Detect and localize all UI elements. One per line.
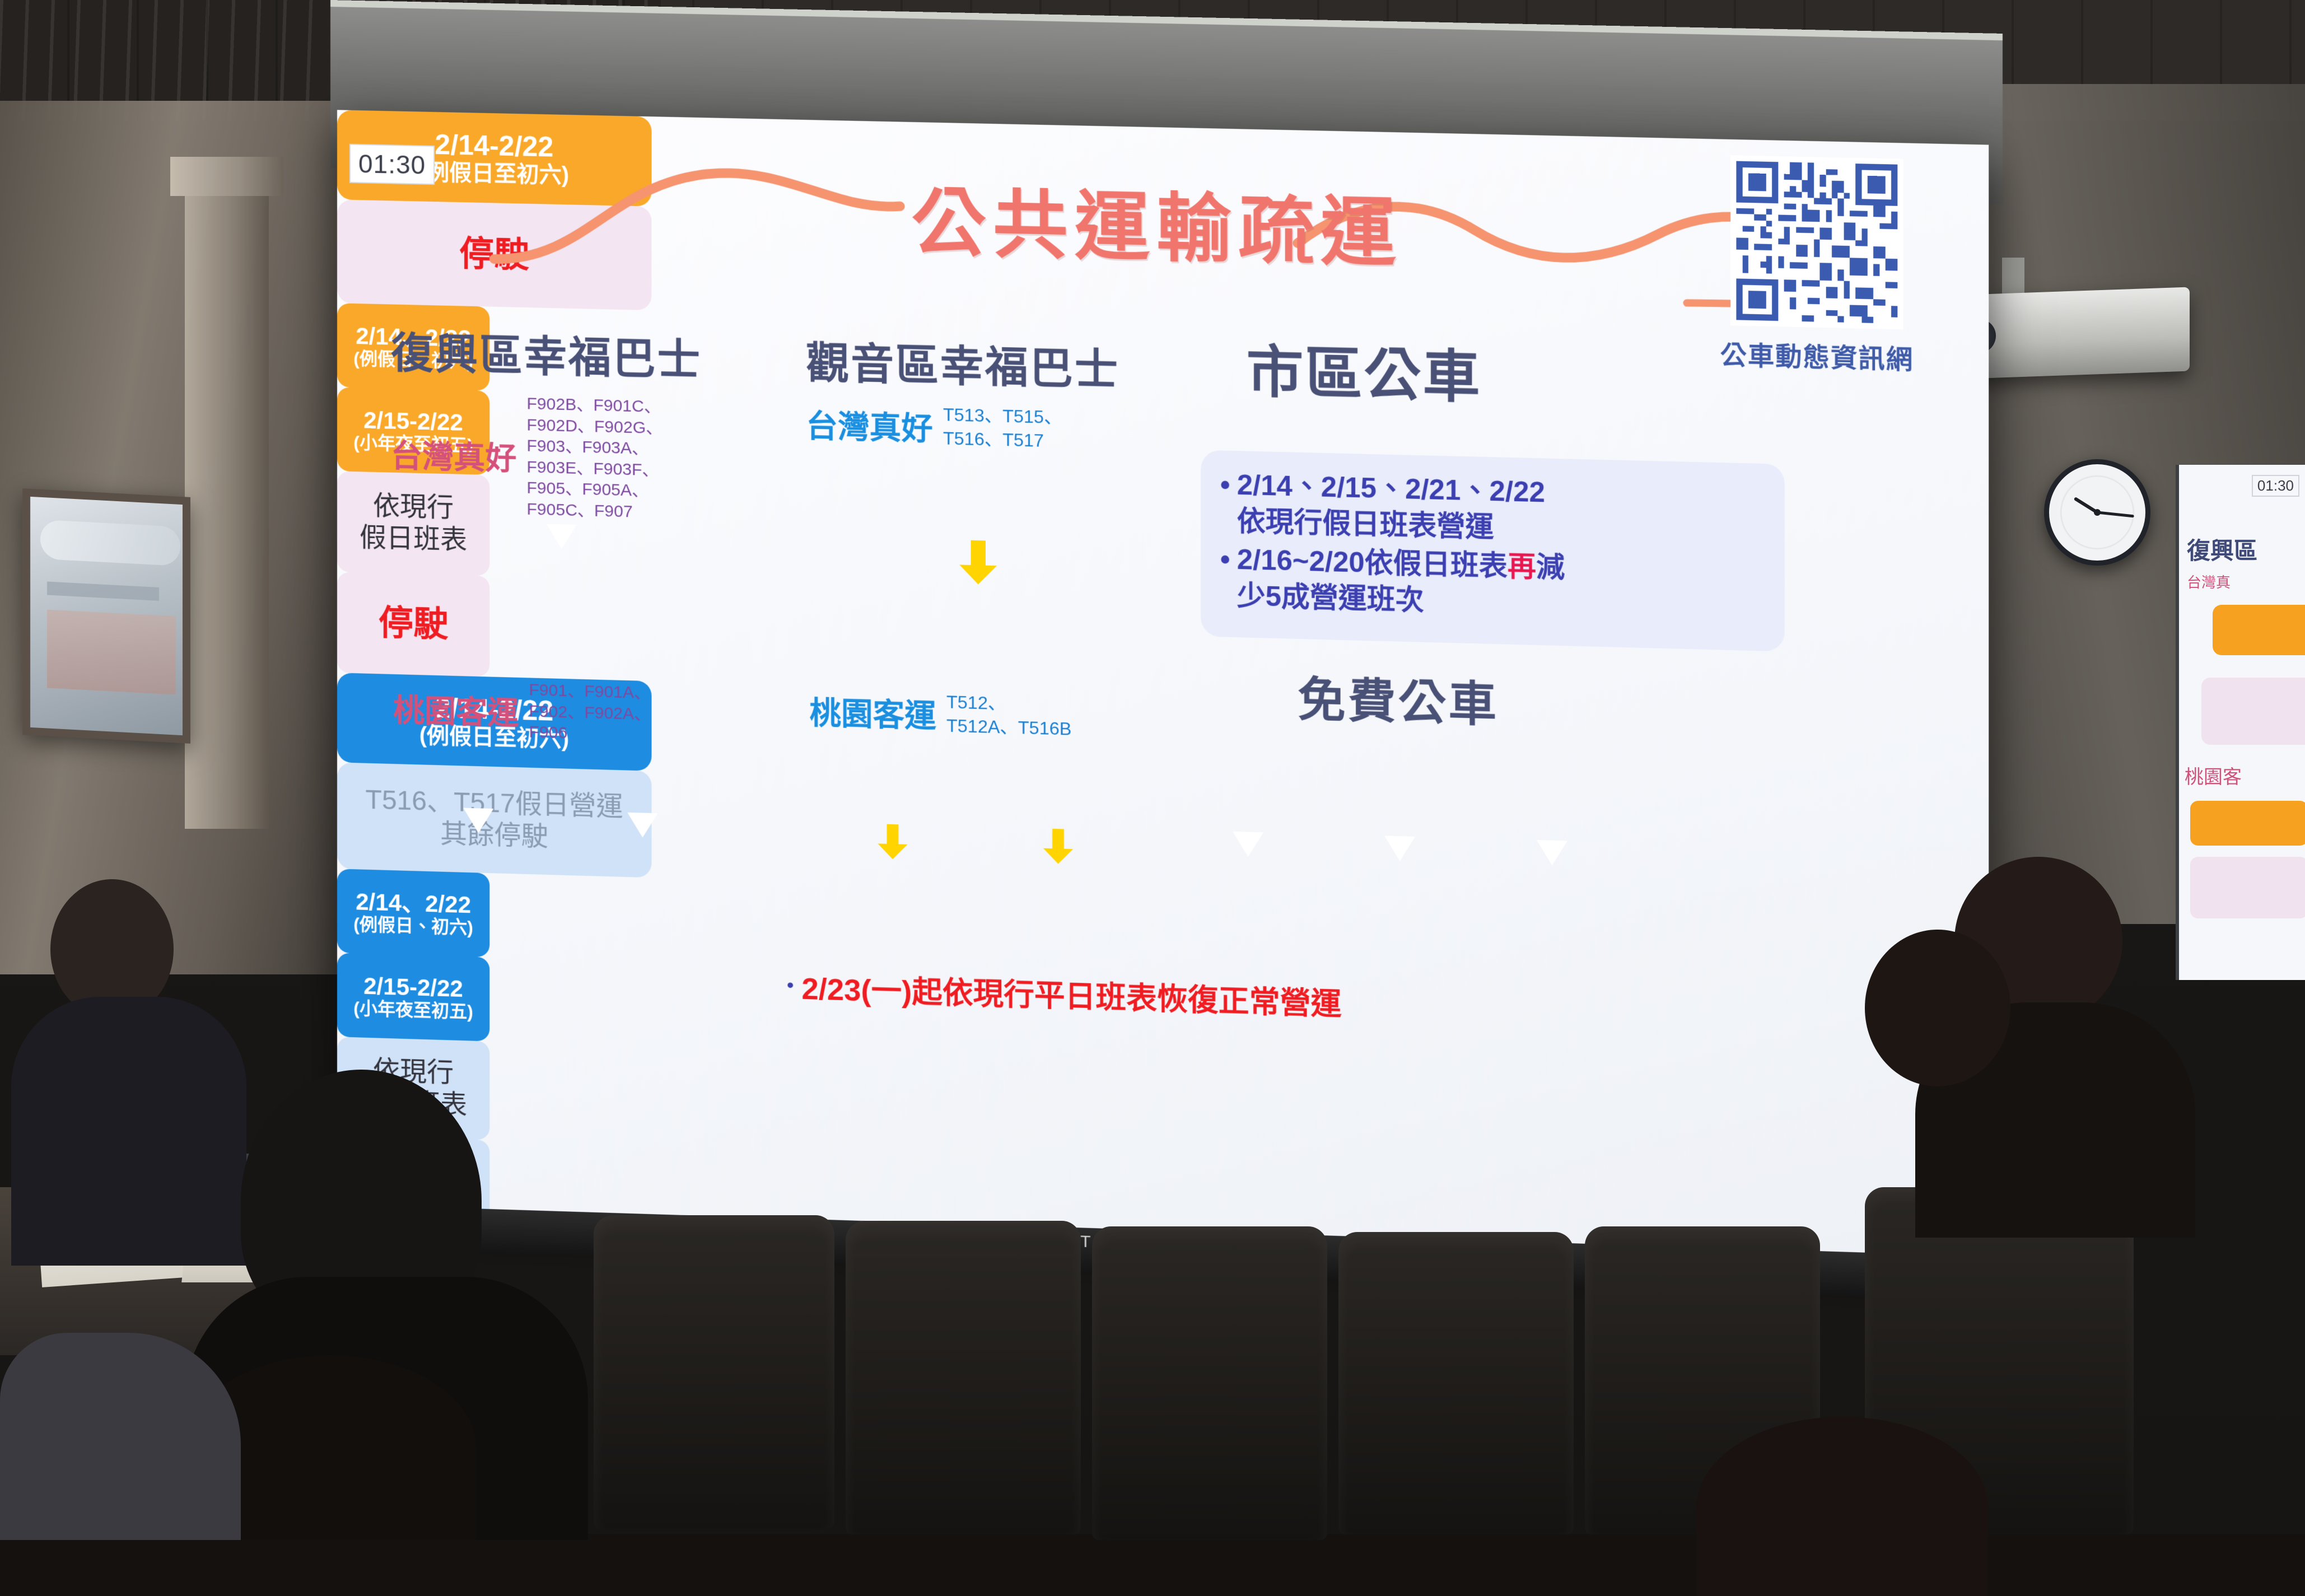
qr-code-block[interactable]: 公車動態資訊網 bbox=[1719, 155, 1915, 376]
conference-room-background: 01:30 復興區 台灣真 桃園客 01:30 公共運輸疏運 bbox=[0, 0, 2305, 1534]
framed-poster bbox=[22, 488, 190, 744]
projector-mount bbox=[2002, 258, 2024, 297]
qr-code-label: 公車動態資訊網 bbox=[1719, 334, 1915, 376]
column-city-bus: 市區公車 bbox=[1247, 326, 1482, 413]
secondary-pink-result bbox=[2201, 678, 2305, 745]
fuxing-happy-connector-notch bbox=[547, 524, 577, 549]
chair-3 bbox=[1092, 1226, 1327, 1540]
operator-name-happy-guanyin: 台灣真好 bbox=[806, 400, 933, 449]
city-bus-info-line-1: • 2/14、2/15、2/21、2/22 依現行假日班表營運 bbox=[1220, 466, 1765, 552]
route-list-taoyuan-guanyin: T512、T512A、T516B bbox=[946, 690, 1077, 741]
guanyin-happy-operator-row: 台灣真好 T513、T515、T516、T517 bbox=[806, 400, 1158, 455]
attendee-bottom-left-suit bbox=[0, 1333, 241, 1540]
attendee-head-bottom-right bbox=[1697, 1417, 1988, 1596]
guanyin-taoyuan-period-2-dates: 2/15-2/22 bbox=[363, 972, 463, 1001]
secondary-subtitle: 台灣真 bbox=[2187, 571, 2231, 592]
guanyin-taoyuan-operator-row: 桃園客運 T512、T512A、T516B bbox=[810, 687, 1150, 743]
column-guanyin: 觀音區幸福巴士 台灣真好 T513、T515、T516、T517 bbox=[806, 328, 1158, 455]
footnote-text: 2/23(一)起依現行平日班表恢復正常營運 bbox=[801, 964, 1341, 1024]
city-bus-info-card: • 2/14、2/15、2/21、2/22 依現行假日班表營運 • 2/16~2… bbox=[1201, 450, 1784, 652]
fuxing-happy-operator-row: 台灣真好 F902B、F901C、F902D、F902G、F903、F903A、… bbox=[391, 390, 728, 525]
city-bus-info-1-line2: 依現行假日班表營運 bbox=[1237, 505, 1494, 543]
guanyin-taoyuan-period-1-note: (例假日、初六) bbox=[353, 914, 473, 938]
slide-footnote: • 2/23(一)起依現行平日班表恢復正常營運 bbox=[787, 963, 1341, 1024]
city-bus-info-line-2: • 2/16~2/20依假日班表再減 少5成營運班次 bbox=[1220, 541, 1765, 627]
secondary-orange-pill bbox=[2213, 605, 2305, 655]
attendee-seated-left-body bbox=[11, 997, 246, 1266]
wall-pillar bbox=[185, 157, 269, 829]
city-bus-info-2-pre: 2/16~2/20依假日班表 bbox=[1237, 544, 1508, 582]
projection-screen: 01:30 公共運輸疏運 bbox=[330, 0, 2003, 1319]
footnote-bullet-icon: • bbox=[787, 974, 794, 997]
city-bus-bullet-2: • bbox=[1220, 541, 1230, 614]
column-title-city-bus: 市區公車 bbox=[1247, 326, 1482, 413]
section-title-free-bus: 免費公車 bbox=[1298, 661, 1499, 735]
city-bus-bullet-1: • bbox=[1220, 466, 1230, 539]
route-list-happy-fuxing: F902B、F901C、F902D、F902G、F903、F903A、F903E… bbox=[527, 393, 696, 524]
free-bus-connector-notch-3 bbox=[1537, 840, 1567, 866]
guanyin-happy-result-line1: T516、T517假日營運 bbox=[366, 785, 623, 823]
free-bus-connector-notch-1 bbox=[1233, 832, 1263, 857]
city-bus-info-1-text: 2/14、2/15、2/21、2/22 依現行假日班表營運 bbox=[1237, 466, 1545, 547]
city-bus-info-2-highlight: 再 bbox=[1508, 550, 1536, 583]
guanyin-taoyuan-period-1-dates: 2/14、2/22 bbox=[356, 888, 471, 918]
guanyin-taoyuan-period-pill-1: 2/14、2/22 (例假日、初六) bbox=[337, 869, 489, 957]
free-bus-connector-notch-2 bbox=[1384, 836, 1415, 861]
guanyin-taoyuan-period-pill-2: 2/15-2/22 (小年夜至初五) bbox=[337, 953, 489, 1041]
secondary-pink-result-2 bbox=[2190, 857, 2305, 918]
chair-1 bbox=[594, 1215, 834, 1529]
operator-name-taoyuan-guanyin: 桃園客運 bbox=[810, 688, 936, 736]
guanyin-taoyuan-down-arrow-icon-2 bbox=[1042, 828, 1075, 864]
fuxing-taoyuan-result-2: 停駛 bbox=[337, 572, 489, 676]
guanyin-taoyuan-down-arrow-icon-1 bbox=[876, 824, 909, 860]
secondary-display: 01:30 復興區 台灣真 桃園客 bbox=[2176, 465, 2305, 980]
column-title-fuxing: 復興區幸福巴士 bbox=[391, 318, 728, 388]
chair-4 bbox=[1338, 1232, 1574, 1534]
presentation-slide: 01:30 公共運輸疏運 bbox=[337, 110, 1989, 1260]
city-bus-info-2-post: 減 bbox=[1536, 551, 1565, 584]
route-list-happy-guanyin: T513、T515、T516、T517 bbox=[943, 403, 1085, 454]
route-list-taoyuan-fuxing: F901、F901A、F902、F902A、F906 bbox=[529, 679, 687, 746]
guanyin-happy-down-arrow-icon bbox=[958, 540, 998, 585]
guanyin-happy-result: T516、T517假日營運 其餘停駛 bbox=[337, 762, 652, 878]
chair-2 bbox=[846, 1221, 1081, 1534]
fuxing-taoyuan-result-1-line2: 假日班表 bbox=[360, 522, 467, 557]
city-bus-info-1-line1: 2/14、2/15、2/21、2/22 bbox=[1237, 469, 1545, 508]
city-bus-info-2-text: 2/16~2/20依假日班表再減 少5成營運班次 bbox=[1237, 542, 1565, 622]
fuxing-taoyuan-operator-row: 桃園客運 F901、F901A、F902、F902A、F906 bbox=[393, 676, 736, 748]
guanyin-taoyuan-period-2-note: (小年夜至初五) bbox=[353, 998, 473, 1022]
qr-code-icon[interactable] bbox=[1730, 155, 1903, 329]
column-title-guanyin: 觀音區幸福巴士 bbox=[806, 328, 1158, 398]
secondary-operator: 桃園客 bbox=[2185, 762, 2242, 789]
operator-name-happy-fuxing: 台灣真好 bbox=[391, 431, 516, 479]
secondary-orange-pill-2 bbox=[2190, 801, 2305, 846]
fuxing-taoyuan-result-2-text: 停駛 bbox=[379, 603, 448, 646]
operator-name-taoyuan-fuxing: 桃園客運 bbox=[393, 685, 519, 734]
column-fuxing: 復興區幸福巴士 台灣真好 F902B、F901C、F902D、F902G、F90… bbox=[391, 318, 728, 524]
secondary-timer: 01:30 bbox=[2252, 475, 2299, 497]
secondary-title: 復興區 bbox=[2187, 532, 2257, 566]
wall-clock bbox=[2044, 459, 2150, 566]
guanyin-happy-result-line2: 其餘停駛 bbox=[440, 818, 548, 853]
attendee-mid-right bbox=[1865, 930, 2010, 1086]
city-bus-info-2-line2: 少5成營運班次 bbox=[1237, 580, 1424, 616]
